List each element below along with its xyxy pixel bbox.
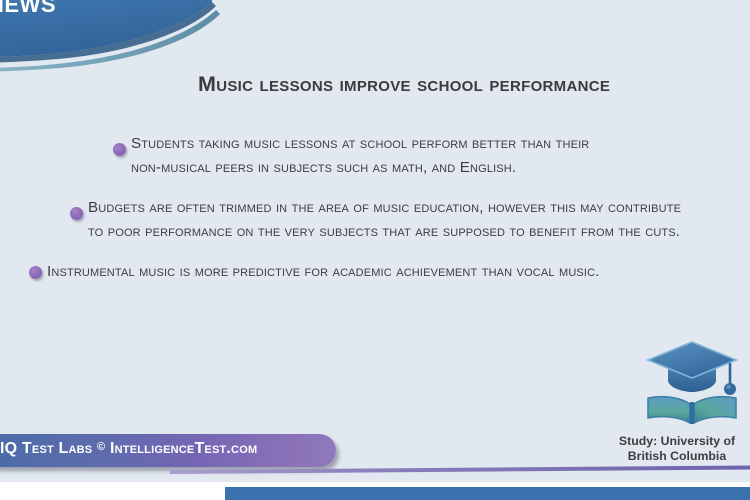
page-title: Music lessons improve school performance bbox=[198, 72, 610, 97]
list-item: Students taking music lessons at school … bbox=[0, 132, 750, 180]
brand-footer-label: IQ Test Labs © IntelligenceTest.com bbox=[0, 440, 257, 458]
bottom-white-strip bbox=[0, 482, 225, 500]
brand-footer-badge[interactable]: IQ Test Labs © IntelligenceTest.com bbox=[0, 434, 336, 467]
bottom-blue-bar bbox=[225, 487, 750, 500]
bullet-line: Instrumental music is more predictive fo… bbox=[47, 260, 750, 284]
study-credit-line1: Study: University of bbox=[604, 434, 750, 449]
list-item: Budgets are often trimmed in the area of… bbox=[0, 196, 750, 244]
news-slide: NEWS Music lessons improve school perfor… bbox=[0, 0, 750, 500]
brand-name: IQ Test Labs bbox=[0, 440, 92, 457]
graduation-cap-and-book-icon bbox=[640, 334, 744, 426]
bullet-dot-icon bbox=[29, 266, 42, 279]
bullet-line: to poor performance on the very subjects… bbox=[88, 220, 750, 244]
news-banner-label: NEWS bbox=[0, 0, 56, 18]
news-banner: NEWS bbox=[0, 0, 230, 81]
study-credit: Study: University of British Columbia bbox=[604, 434, 750, 464]
bullet-dot-icon bbox=[113, 143, 126, 156]
study-credit-line2: British Columbia bbox=[604, 449, 750, 464]
bullet-dot-icon bbox=[70, 207, 83, 220]
copyright-icon: © bbox=[97, 441, 105, 453]
bullet-line: Students taking music lessons at school … bbox=[131, 132, 750, 156]
bullet-line: non-musical peers in subjects such as ma… bbox=[131, 156, 750, 180]
bullet-list: Students taking music lessons at school … bbox=[0, 132, 750, 300]
list-item: Instrumental music is more predictive fo… bbox=[0, 260, 750, 284]
brand-site: IntelligenceTest.com bbox=[110, 440, 257, 457]
bullet-line: Budgets are often trimmed in the area of… bbox=[88, 196, 750, 220]
